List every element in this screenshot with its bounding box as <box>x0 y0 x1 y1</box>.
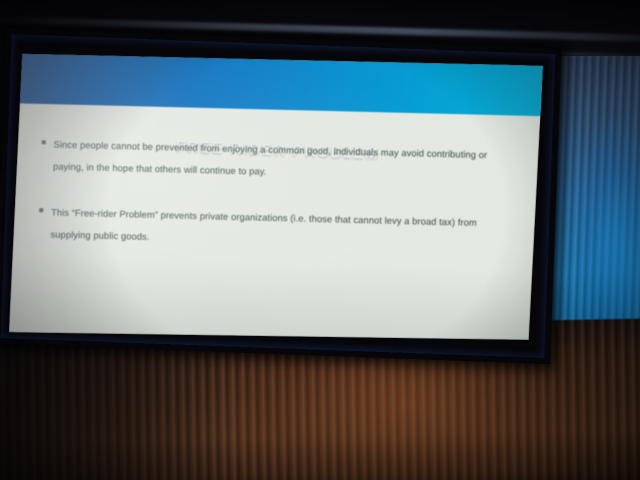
auditorium-photo: FREE-RIDER PROBLEM Since people cannot b… <box>0 0 640 480</box>
bullet-item: Since people cannot be prevented from en… <box>37 134 510 189</box>
square-bullet-icon <box>42 140 46 144</box>
bottom-curtain-warm-light <box>220 350 600 480</box>
slide-body: Since people cannot be prevented from en… <box>9 107 541 352</box>
slide-title-bar <box>9 47 543 117</box>
bullet-item: This “Free-rider Problem” prevents priva… <box>34 202 507 257</box>
square-bullet-icon <box>39 208 43 212</box>
projection-screen-frame: FREE-RIDER PROBLEM Since people cannot b… <box>0 28 562 364</box>
bullet-text: This “Free-rider Problem” prevents priva… <box>50 202 507 257</box>
bullet-text: Since people cannot be prevented from en… <box>53 135 510 190</box>
presentation-slide: FREE-RIDER PROBLEM Since people cannot b… <box>9 47 543 352</box>
